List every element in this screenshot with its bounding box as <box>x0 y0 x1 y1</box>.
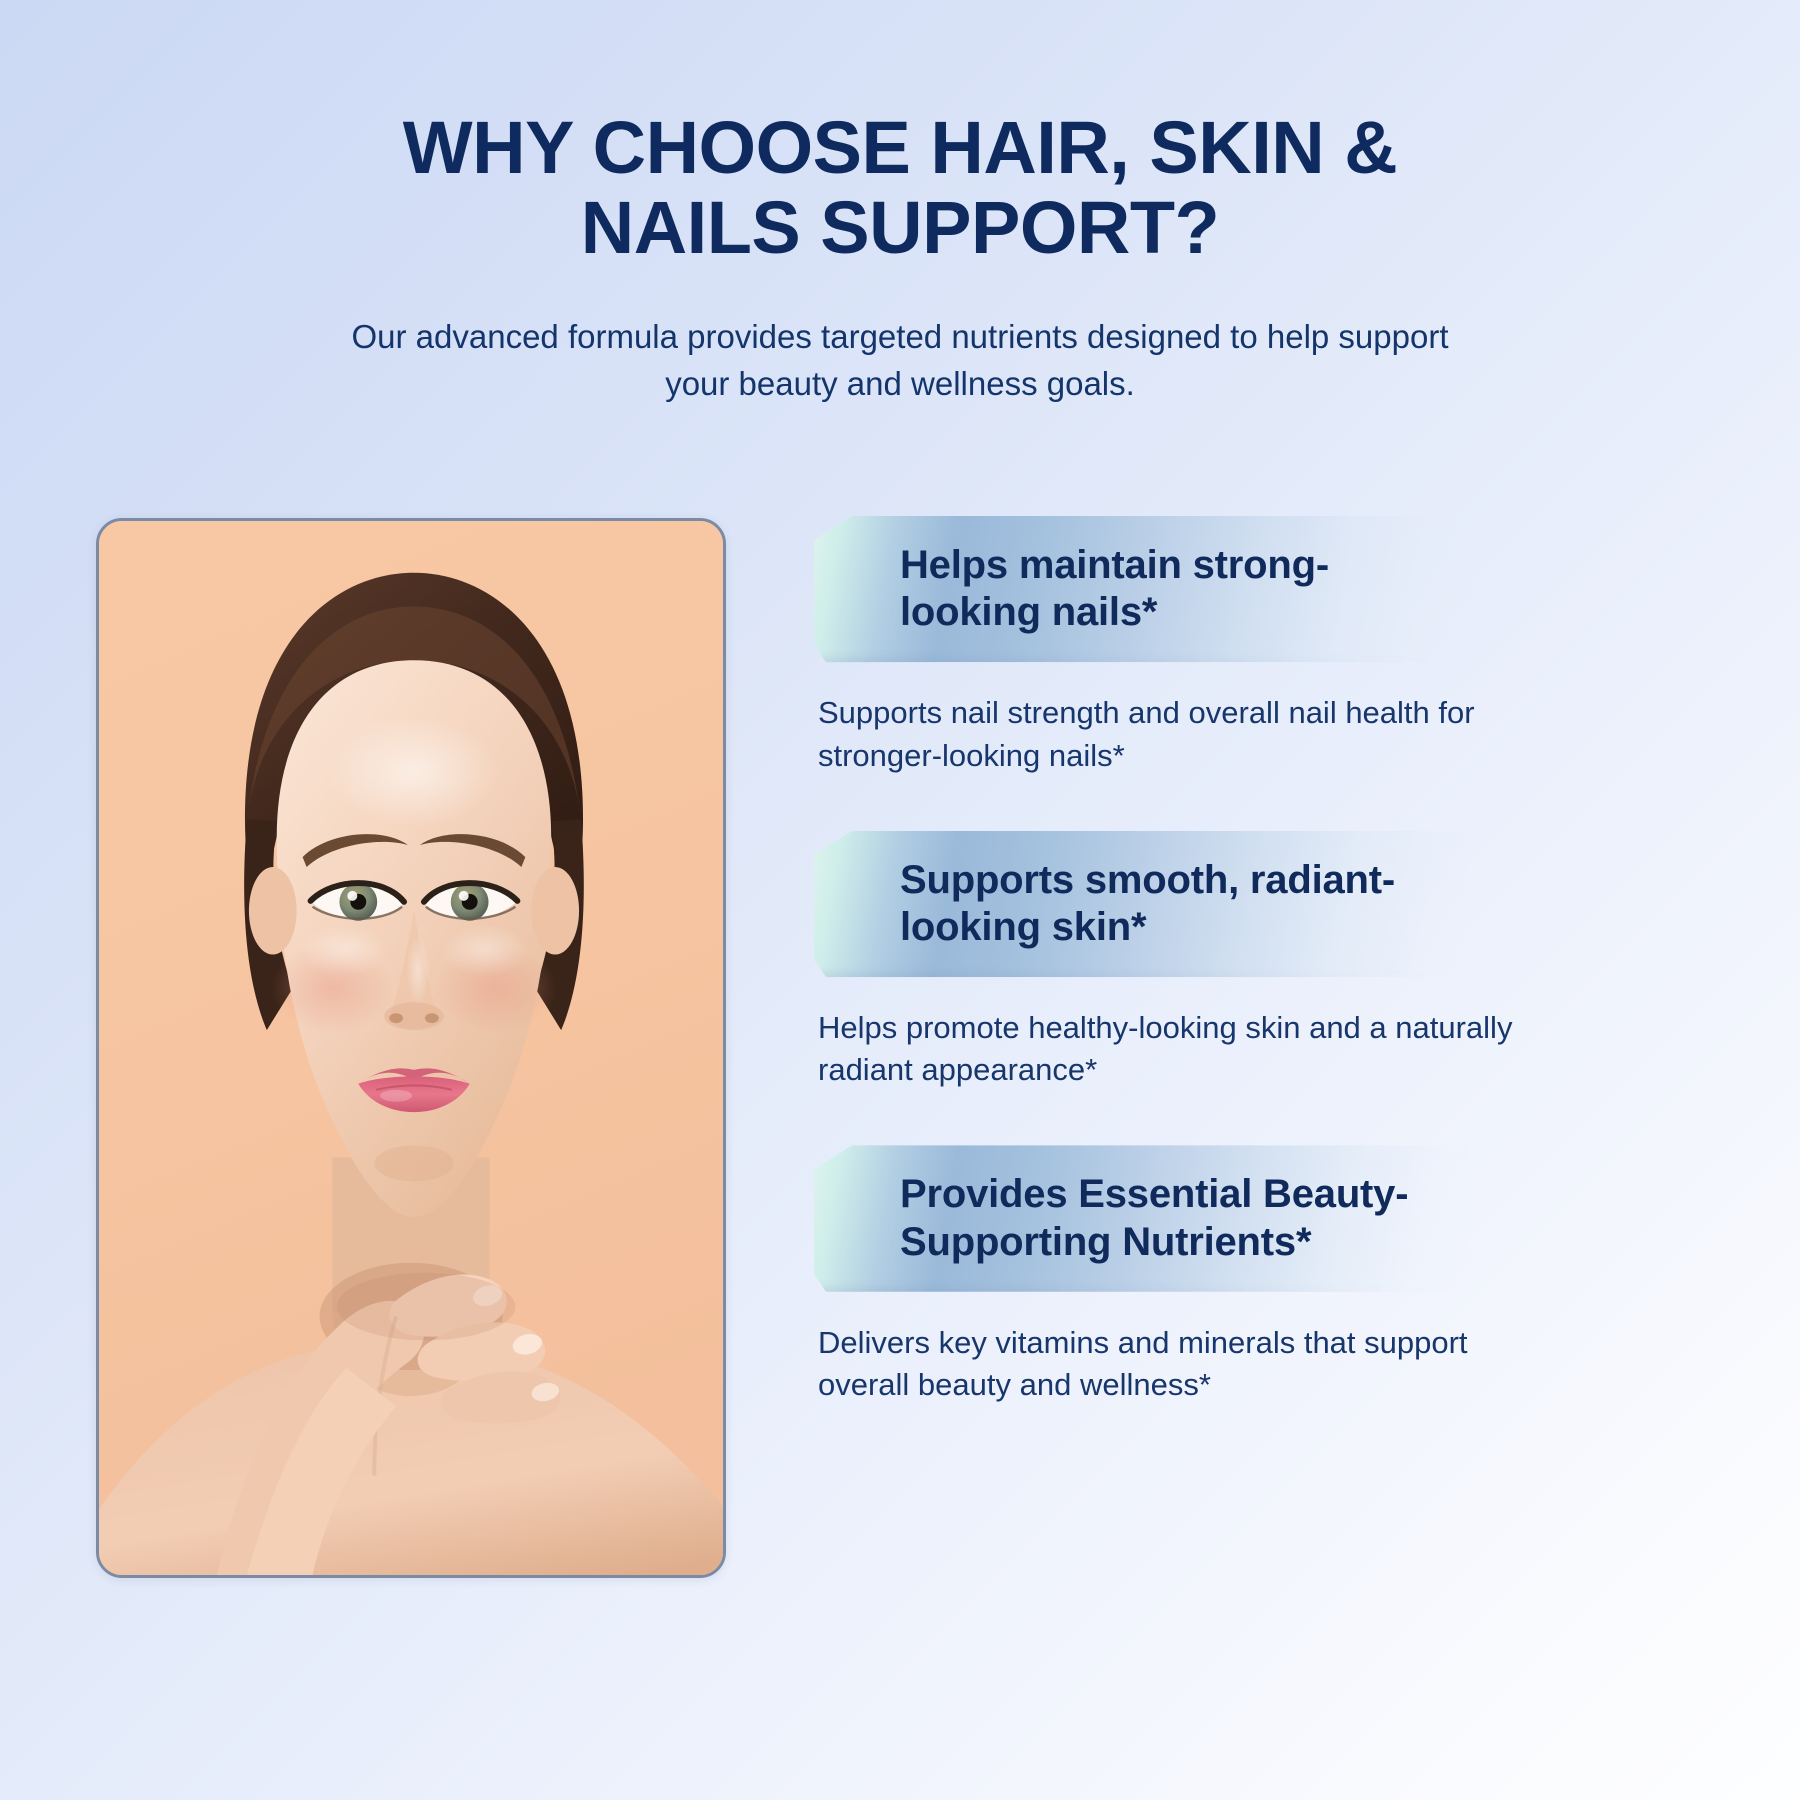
portrait-image-card <box>96 518 726 1578</box>
benefit-description: Helps promote healthy-looking skin and a… <box>818 1007 1518 1091</box>
promo-page: WHY CHOOSE HAIR, SKIN & NAILS SUPPORT? O… <box>0 0 1800 1800</box>
page-title: WHY CHOOSE HAIR, SKIN & NAILS SUPPORT? <box>285 108 1515 268</box>
benefit-badge: Provides Essential Beauty-Supporting Nut… <box>808 1145 1468 1291</box>
benefits-list: Helps maintain strong-looking nails* Sup… <box>808 516 1680 1406</box>
benefit-item: Provides Essential Beauty-Supporting Nut… <box>808 1145 1680 1406</box>
page-subtitle: Our advanced formula provides targeted n… <box>320 314 1480 408</box>
benefit-title: Provides Essential Beauty-Supporting Nut… <box>900 1171 1428 1265</box>
benefit-description: Supports nail strength and overall nail … <box>818 692 1518 776</box>
benefit-badge: Helps maintain strong-looking nails* <box>808 516 1468 662</box>
benefit-title: Helps maintain strong-looking nails* <box>900 542 1428 636</box>
benefit-badge: Supports smooth, radiant-looking skin* <box>808 831 1468 977</box>
model-portrait-image <box>99 521 723 1575</box>
benefit-item: Helps maintain strong-looking nails* Sup… <box>808 516 1680 777</box>
benefit-item: Supports smooth, radiant-looking skin* H… <box>808 831 1680 1092</box>
benefit-description: Delivers key vitamins and minerals that … <box>818 1322 1518 1406</box>
benefit-title: Supports smooth, radiant-looking skin* <box>900 857 1428 951</box>
header-section: WHY CHOOSE HAIR, SKIN & NAILS SUPPORT? O… <box>0 108 1800 408</box>
